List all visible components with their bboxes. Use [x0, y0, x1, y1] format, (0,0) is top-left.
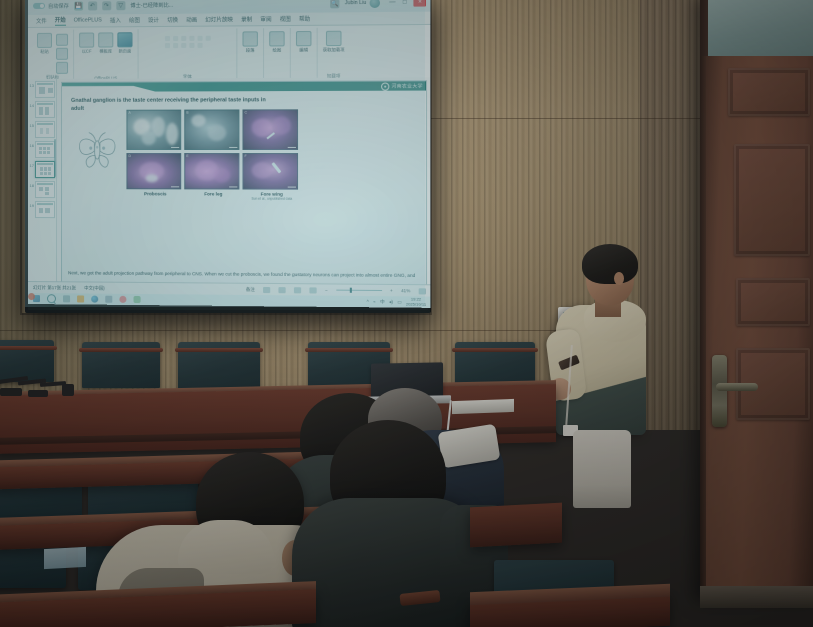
thumbnail-number: 16 — [29, 141, 34, 148]
grow-font-icon[interactable] — [189, 43, 194, 48]
zoom-slider-knob[interactable] — [349, 288, 351, 293]
officeplus-template-button[interactable]: 以CF — [79, 33, 94, 55]
volume-icon[interactable]: ◂) — [389, 299, 393, 305]
scale-bar — [288, 147, 296, 148]
template-label: 以CF — [82, 49, 92, 55]
thumb-cell — [40, 167, 43, 171]
normal-view-icon[interactable] — [263, 286, 270, 292]
paste-button[interactable]: 粘贴 — [37, 33, 52, 55]
titlebar-spacer — [178, 3, 325, 4]
microscopy-image-grid: A B — [126, 109, 298, 189]
scale-bar — [229, 186, 237, 187]
thumbnail-preview — [35, 201, 55, 218]
present-icon[interactable]: ▽ — [116, 1, 125, 10]
microphone-base-2[interactable] — [0, 388, 22, 396]
clock-date: 2025/10/11 — [406, 302, 426, 307]
tab-review[interactable]: 审阅 — [260, 15, 271, 23]
paragraph-icon — [242, 31, 257, 46]
tab-file[interactable]: 文件 — [36, 17, 47, 25]
thumb-cell — [47, 151, 50, 154]
underline-icon[interactable] — [181, 36, 186, 41]
newpage-label: 新页面 — [119, 48, 132, 54]
clipboard-small-buttons — [56, 33, 68, 74]
caption-sublabel: Sun et al., unpublished data — [242, 197, 301, 201]
app-icon[interactable] — [119, 296, 126, 303]
thumb-cell — [46, 128, 49, 134]
font-color-icon[interactable] — [173, 43, 178, 48]
thumbnail-15[interactable]: 15 — [29, 121, 55, 138]
zoom-slider[interactable] — [336, 290, 382, 292]
thumb-title-bar — [37, 203, 53, 205]
door-lock-plate[interactable] — [712, 355, 727, 427]
library-icon — [98, 32, 113, 47]
addins-label: 获取加载项 — [323, 47, 345, 53]
thumb-cell — [45, 192, 49, 195]
thumbnail-preview — [35, 121, 55, 138]
ribbon-group-drawing: 绘图 — [264, 28, 291, 81]
micrograph-panel-e: E — [184, 153, 239, 189]
document-name[interactable]: 博士-已经降到比... — [130, 1, 173, 8]
search-icon[interactable]: 🔍 — [330, 0, 339, 8]
door-transom-glass — [708, 0, 813, 61]
addins-icon — [326, 31, 342, 46]
ribbon-group-paragraph: 段落 — [237, 28, 264, 81]
editing-button[interactable]: 编辑 — [296, 31, 311, 53]
thumb-cell — [43, 147, 46, 150]
thumb-cell — [45, 208, 50, 213]
thumbnail-14[interactable]: 14 — [29, 101, 55, 118]
meeting-room-door[interactable] — [706, 56, 813, 601]
slideshow-icon[interactable] — [309, 287, 316, 293]
scale-bar — [288, 187, 296, 188]
battery-icon[interactable]: ▭ — [397, 299, 402, 305]
micrograph-panel-a: A — [126, 110, 181, 150]
micro-structure — [146, 174, 158, 182]
cut-icon[interactable] — [56, 34, 68, 46]
presenter-trousers — [573, 430, 631, 508]
reading-view-icon[interactable] — [294, 287, 301, 293]
restore-button[interactable]: □ — [403, 0, 407, 6]
editing-label: 编辑 — [299, 47, 308, 53]
caption-foreleg: Fore leg — [184, 191, 242, 200]
user-name: Jubin Liu — [345, 0, 367, 6]
thumbnail-number: 19 — [29, 201, 34, 208]
thumb-cell — [47, 147, 50, 150]
slide-thumbnail-panel[interactable]: 13 14 — [28, 79, 57, 282]
thumbnail-preview — [35, 141, 55, 158]
thumb-cell — [44, 172, 47, 175]
tab-slideshow[interactable]: 幻灯片放映 — [205, 15, 233, 23]
scale-bar — [171, 186, 179, 187]
zoom-in-button[interactable]: + — [390, 288, 393, 293]
thumb-cell — [39, 208, 43, 213]
micrograph-panel-d: D — [126, 153, 181, 189]
logo-text: 河南农业大学 — [392, 83, 423, 89]
tab-transitions[interactable]: 切换 — [167, 16, 178, 24]
micro-structure — [142, 131, 156, 145]
highlight-icon[interactable] — [181, 43, 186, 48]
thumb-cell — [45, 107, 49, 115]
university-logo: 河南农业大学 — [381, 82, 423, 90]
font-row-1 — [164, 36, 210, 41]
micro-structure — [191, 115, 205, 127]
thumbnail-13[interactable]: 13 — [29, 81, 55, 98]
font-row-2 — [164, 43, 210, 48]
slide-count-label: 幻灯片 第17张 共21张 — [33, 285, 76, 291]
paste-label: 粘贴 — [40, 49, 48, 55]
ribbon-group-officeplus: 以CF 模板库 新页面 OfficePLUS — [74, 29, 139, 82]
tab-draw[interactable]: 绘图 — [129, 16, 140, 24]
italic-icon[interactable] — [173, 36, 178, 41]
micrograph-panel-c: C — [242, 109, 298, 150]
thumb-cell — [39, 107, 43, 115]
taskbar-clock[interactable]: 19:22 2025/10/11 — [406, 297, 426, 306]
tab-home[interactable]: 开始 — [55, 16, 66, 26]
thumbnail-18[interactable]: 18 — [29, 181, 55, 198]
ribbon: 粘贴 剪贴板 以CF — [28, 25, 431, 83]
ribbon-group-clipboard: 粘贴 剪贴板 — [32, 30, 74, 82]
door-sill — [700, 586, 813, 608]
desk-document[interactable] — [44, 547, 86, 569]
thumb-cell — [39, 147, 42, 150]
current-slide[interactable]: 河南农业大学 Gnathal ganglion is the taste cen… — [61, 80, 427, 285]
thumb-title-bar — [37, 163, 53, 165]
fit-to-window-icon[interactable] — [419, 288, 426, 294]
logo-mark-icon — [381, 83, 389, 91]
micro-structure — [252, 162, 273, 178]
window-controls: — □ × — [385, 0, 426, 7]
task-view-icon[interactable] — [63, 295, 70, 302]
redo-icon[interactable]: ↷ — [102, 1, 111, 10]
autosave-label: 自动保存 — [48, 2, 69, 9]
sorter-view-icon[interactable] — [279, 287, 286, 293]
thumbnail-19[interactable]: 19 — [29, 201, 55, 218]
panel-label: B — [186, 111, 188, 115]
thumbnail-number: 13 — [29, 81, 34, 88]
wechat-icon[interactable] — [134, 296, 141, 303]
screenshot-root: 自动保存 💾 ↶ ↷ ▽ 博士-已经降到比... 🔍 Jubin Liu — □… — [0, 0, 813, 627]
officeplus-library-button[interactable]: 模板库 — [98, 32, 113, 54]
find-icon — [296, 31, 311, 46]
micrograph-panel-b: B — [184, 109, 239, 150]
door-panel-top — [728, 68, 810, 116]
micro-structure — [166, 123, 178, 145]
notes-button[interactable]: 备注 — [246, 286, 255, 292]
door-panel-middle — [736, 278, 810, 326]
language-label[interactable]: 中文(中国) — [84, 285, 105, 291]
executive-chair-3[interactable] — [178, 342, 260, 390]
scale-bar — [229, 147, 237, 148]
thumbnail-16[interactable]: 16 — [29, 141, 55, 158]
save-icon[interactable]: 💾 — [74, 1, 83, 10]
thumb-cell — [48, 88, 53, 93]
thumb-cell — [39, 151, 42, 154]
thumbnail-number: 15 — [29, 121, 34, 128]
thumb-cell — [44, 167, 47, 171]
thumb-cell — [43, 151, 46, 154]
thumb-cell — [48, 172, 51, 175]
shapes-icon — [269, 31, 284, 46]
presenter-ear — [614, 272, 624, 285]
thumbnail-number: 14 — [29, 101, 34, 108]
shadow-icon[interactable] — [197, 36, 202, 41]
micro-structure — [214, 168, 230, 182]
strikethrough-icon[interactable] — [189, 36, 194, 41]
side-bench — [470, 503, 562, 548]
officeplus-newpage-button[interactable]: 新页面 — [117, 32, 132, 54]
library-label: 模板库 — [99, 48, 112, 54]
microphone-base-3[interactable] — [28, 390, 48, 397]
font-buttons — [164, 29, 210, 75]
charspacing-icon[interactable] — [205, 36, 210, 41]
panel-label: E — [186, 154, 188, 158]
thumbnail-preview — [35, 101, 55, 118]
shrink-font-icon[interactable] — [197, 43, 202, 48]
network-icon[interactable]: ⌁ — [373, 299, 376, 305]
input-method-icon[interactable]: 中 — [380, 299, 385, 305]
paper-sheet — [452, 399, 514, 414]
addins-buttons: 获取加载项 — [323, 28, 345, 74]
thumb-cell — [40, 172, 43, 175]
autosave-toggle[interactable]: 自动保存 — [33, 2, 69, 9]
thumbnail-preview — [35, 161, 55, 178]
scale-bar — [171, 147, 179, 148]
autosave-switch[interactable] — [33, 3, 45, 9]
panel-captions: Proboscis Fore leg Fore wing Sun et al.,… — [126, 191, 304, 201]
micrograph-panel-f: F — [242, 153, 298, 190]
paragraph-buttons: 段落 — [242, 28, 257, 80]
format-painter-icon[interactable] — [56, 62, 68, 74]
moth-diagram — [74, 129, 120, 171]
presenter-hair — [582, 244, 638, 284]
thumb-title-bar — [37, 123, 53, 125]
addins-button[interactable]: 获取加载项 — [323, 31, 345, 54]
folder-icon[interactable] — [77, 295, 84, 302]
avatar[interactable] — [369, 0, 379, 8]
powerpoint-icon[interactable] — [28, 293, 35, 300]
panel-label: D — [128, 154, 130, 158]
copy-icon[interactable] — [56, 48, 68, 60]
template-icon — [79, 33, 94, 48]
drawing-button[interactable]: 绘图 — [269, 31, 284, 53]
drawing-label: 绘图 — [273, 47, 282, 53]
thumb-title-bar — [37, 103, 53, 105]
paste-icon — [37, 33, 52, 48]
thumb-title-bar — [37, 143, 53, 145]
panel-label: F — [245, 154, 247, 158]
slide-header-banner — [62, 81, 426, 92]
thumbnail-number: 17 — [29, 161, 34, 168]
paragraph-button[interactable]: 段落 — [242, 31, 257, 53]
tab-insert[interactable]: 插入 — [110, 16, 121, 24]
panel-label: C — [245, 110, 248, 114]
caption-label: Proboscis — [126, 191, 184, 196]
thumb-cell — [40, 128, 43, 134]
tab-animations[interactable]: 动画 — [186, 16, 197, 24]
powerpoint-body: 13 14 — [28, 77, 431, 285]
tab-design[interactable]: 设计 — [148, 16, 159, 24]
editing-buttons: 编辑 — [296, 28, 311, 80]
caption-label: Fore leg — [184, 191, 242, 196]
thumb-cell — [39, 87, 45, 94]
tab-record[interactable]: 录制 — [241, 15, 252, 23]
close-button[interactable]: × — [414, 0, 426, 7]
minimize-button[interactable]: — — [389, 0, 395, 6]
ribbon-group-font: 字体 — [139, 28, 238, 81]
door-panel-upper — [734, 144, 810, 256]
status-spacer — [113, 288, 238, 289]
clear-format-icon[interactable] — [164, 43, 169, 48]
arrow-marker — [271, 162, 281, 173]
panel-label: A — [128, 111, 130, 115]
caption-proboscis: Proboscis — [126, 191, 184, 200]
zoom-level-label: 41% — [401, 288, 410, 293]
caption-forewing: Fore wing Sun et al., unpublished data — [242, 192, 301, 201]
slide-editing-area: 河南农业大学 Gnathal ganglion is the taste cen… — [57, 77, 431, 285]
paragraph-label: 段落 — [246, 48, 255, 54]
slide-body-text: Next, we got the adult projection pathwa… — [68, 270, 420, 280]
account-area[interactable]: Jubin Liu — [345, 0, 380, 8]
system-tray: ^ ⌁ 中 ◂) ▭ 19:22 2025/10/11 — [367, 297, 426, 307]
powerpoint-window: 自动保存 💾 ↶ ↷ ▽ 博士-已经降到比... 🔍 Jubin Liu — □… — [28, 0, 431, 308]
drawing-buttons: 绘图 — [269, 28, 284, 80]
show-hidden-icons[interactable]: ^ — [367, 299, 369, 304]
thumb-title-bar — [37, 183, 53, 185]
newpage-icon — [117, 32, 132, 47]
undo-icon[interactable]: ↶ — [88, 1, 97, 10]
microphone-base[interactable] — [62, 384, 74, 396]
thumbnail-scrollbar[interactable] — [54, 139, 56, 177]
thumb-cell — [48, 167, 51, 171]
thumb-title-bar — [37, 83, 53, 85]
executive-chair-2[interactable] — [82, 342, 160, 388]
edge-icon[interactable] — [91, 296, 98, 303]
projector-screen: 自动保存 💾 ↶ ↷ ▽ 博士-已经降到比... 🔍 Jubin Liu — □… — [28, 0, 431, 308]
ribbon-group-addins: 获取加载项 加载项 — [318, 28, 350, 81]
thumbnail-number: 18 — [29, 181, 34, 188]
ribbon-group-editing: 编辑 — [291, 28, 318, 81]
thumb-cell — [45, 187, 49, 191]
bold-icon[interactable] — [164, 36, 169, 41]
thumbnail-17-selected[interactable]: 17 — [29, 161, 55, 178]
font-controls — [164, 32, 210, 48]
search-icon[interactable] — [47, 294, 56, 303]
micro-structure — [272, 116, 291, 134]
thumbnail-preview — [35, 81, 55, 98]
zoom-out-button[interactable]: − — [325, 287, 328, 292]
mail-icon[interactable] — [105, 296, 112, 303]
thumbnail-preview — [35, 181, 55, 198]
officeplus-buttons: 以CF 模板库 新页面 — [79, 29, 132, 76]
micro-structure — [208, 125, 226, 141]
tab-help[interactable]: 帮助 — [299, 15, 310, 23]
door-handle-icon[interactable] — [716, 383, 758, 391]
clipboard-buttons: 粘贴 — [37, 30, 68, 75]
tab-officeplus[interactable]: OfficePLUS — [74, 17, 102, 23]
tab-view[interactable]: 视图 — [280, 15, 291, 23]
thumb-cell — [39, 187, 43, 191]
